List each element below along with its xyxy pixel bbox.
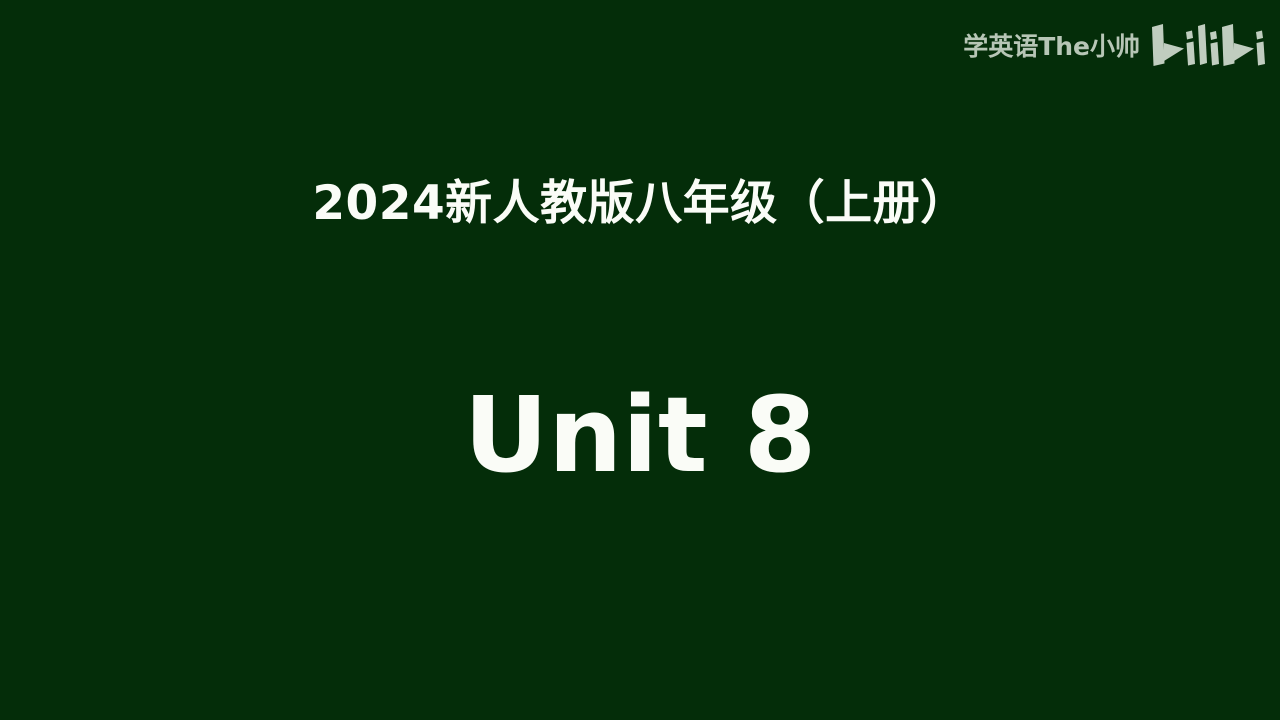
channel-name-label: 学英语The小帅 bbox=[963, 34, 1140, 59]
slide-canvas: 学英语The小帅 bbox=[0, 0, 1280, 720]
unit-heading: Unit 8 bbox=[0, 378, 1280, 492]
bilibili-logo-icon bbox=[1150, 23, 1266, 69]
course-title: 2024新人教版八年级（上册） bbox=[0, 176, 1280, 232]
channel-watermark: 学英语The小帅 bbox=[963, 22, 1266, 70]
